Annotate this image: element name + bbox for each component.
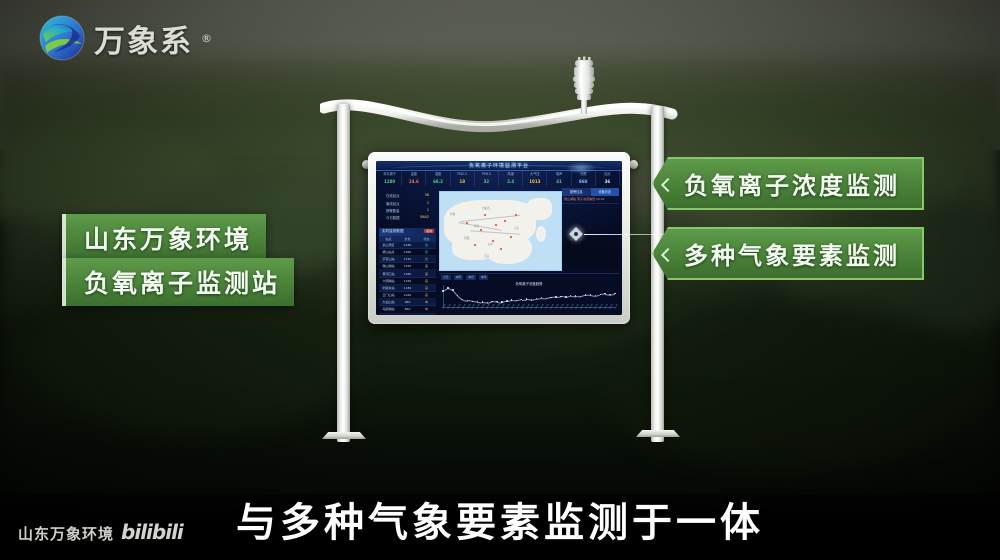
data-table-title: 实时监测数据: [382, 229, 404, 233]
chart-data-point: [546, 298, 547, 299]
table-column-header: 负氧: [398, 237, 417, 241]
station-stat-value: 2: [427, 201, 429, 206]
kpi-card[interactable]: PM2.518: [451, 171, 475, 186]
chart-data-point: [472, 301, 473, 302]
kpi-value: 32: [475, 178, 498, 185]
chart-x-tick-label: 19:00: [536, 304, 541, 310]
callout-right-2[interactable]: 多种气象要素监测: [652, 227, 924, 280]
kpi-card[interactable]: 风速2.4: [499, 171, 523, 186]
station-stats-list: 在线站点36离线站点2报警数量1今日数据8642: [379, 192, 436, 222]
map-region-label: 青海: [474, 224, 479, 228]
alert-item[interactable]: 微山湖站 离子浓度偏低 09:42: [562, 196, 619, 204]
table-cell: 良: [417, 264, 436, 268]
chart-data-point: [482, 301, 483, 302]
right-panel-tabs[interactable]: 报警信息设备状态: [562, 188, 619, 196]
table-cell: 2180: [398, 243, 417, 247]
table-cell: 良: [417, 272, 436, 276]
table-row[interactable]: 黄河口站1380良: [379, 270, 436, 277]
callout-left-1-label: 山东万象环境: [84, 220, 252, 256]
table-cell: 1040: [398, 293, 417, 297]
table-row[interactable]: 云门山站1040良: [379, 292, 436, 299]
dashboard-left-panel: 在线站点36离线站点2报警数量1今日数据8642 实时监测数据 实时 站点负氧状…: [379, 188, 436, 312]
table-cell: 崂山站点: [379, 250, 398, 254]
table-cell: 860: [398, 307, 417, 311]
kpi-card[interactable]: 湿度68.2: [426, 171, 450, 186]
station-stat-value: 8642: [420, 215, 429, 220]
kpi-card[interactable]: PM1032: [475, 171, 499, 186]
table-cell: 大明湖站: [379, 279, 398, 283]
table-cell: 良: [417, 279, 436, 283]
chart-x-tick-label: 06:30: [590, 304, 595, 310]
table-cell: 中: [417, 307, 436, 311]
data-table-header: 实时监测数据 实时: [379, 228, 436, 236]
table-row[interactable]: 泰山景区2180优: [379, 242, 436, 249]
callout-right-1-label: 负氧离子浓度监测: [684, 166, 900, 201]
map-region-label: 内蒙古: [482, 206, 490, 210]
display-screen-frame: 负氧离子环境监测平台 负氧离子1280温度24.6湿度68.2PM2.518PM…: [368, 152, 630, 324]
table-cell: 云门山站: [379, 293, 398, 297]
table-column-header: 状态: [417, 237, 436, 241]
chart-data-point: [555, 296, 556, 297]
table-cell: 九仙山站: [379, 300, 398, 304]
station-stat: 离线站点2: [379, 199, 436, 206]
map-landmass: [526, 198, 552, 220]
chart-data-point: [452, 289, 453, 290]
table-cell: 980: [398, 300, 417, 304]
kpi-value: 1013: [523, 178, 546, 185]
kpi-card[interactable]: 光照860: [572, 171, 596, 186]
callout-left-2-label: 负氧离子监测站: [84, 264, 280, 300]
map-station-dot[interactable]: [492, 240, 494, 242]
map-station-dot[interactable]: [466, 222, 468, 224]
table-row[interactable]: 崂山站点1960优: [379, 249, 436, 256]
kpi-value: 68.2: [426, 178, 449, 185]
table-cell: 优: [417, 257, 436, 261]
map-region-label: 山东: [514, 226, 519, 230]
chart-x-tick-label: 10:00: [491, 304, 496, 310]
table-cell: 1960: [398, 250, 417, 254]
kpi-label: 光照: [572, 171, 595, 178]
chart-data-point: [491, 301, 492, 302]
chart-x-tick-label: 08:30: [599, 304, 604, 310]
map-station-dot[interactable]: [515, 214, 517, 216]
kpi-label: PM2.5: [451, 171, 474, 178]
video-frame: 万象系 ®: [0, 0, 1000, 560]
kpi-value: 2.4: [499, 178, 522, 185]
map-region-label: 西藏: [464, 236, 469, 240]
chart-x-tick-label: 10:30: [609, 304, 614, 310]
chart-data-point: [526, 298, 527, 299]
table-cell: 趵突泉站: [379, 286, 398, 290]
kpi-value: 18: [451, 178, 474, 185]
kpi-card[interactable]: 大气压1013: [523, 171, 547, 186]
station-stat-label: 今日数据: [386, 215, 400, 220]
map-region-label: 四川: [488, 242, 493, 246]
chart-data-point: [447, 287, 448, 288]
dashboard-right-panel[interactable]: 报警信息设备状态 微山湖站 离子浓度偏低 09:42: [562, 188, 619, 240]
table-row[interactable]: 马踏湖站860中: [379, 306, 436, 313]
chart-x-tick-label: 07:30: [594, 304, 599, 310]
chart-data-point: [442, 290, 443, 291]
map-station-dot[interactable]: [500, 248, 502, 250]
chart-x-tick-label: 22:00: [550, 304, 555, 310]
table-cell: 泰山景区: [379, 243, 398, 247]
registered-mark-icon: ®: [201, 32, 212, 45]
table-cell: 马踏湖站: [379, 307, 398, 311]
kpi-card[interactable]: 温度24.6: [402, 171, 426, 186]
trend-chart-panel[interactable]: 今日本周本月本年 负氧离子浓度趋势 00:0001:0002:0003:0004…: [439, 273, 619, 313]
map-landmass: [486, 234, 532, 264]
kpi-value: 24.6: [402, 178, 425, 185]
right-panel-tab[interactable]: 设备状态: [591, 188, 620, 196]
chart-data-point: [506, 300, 507, 301]
chart-data-point: [614, 293, 615, 294]
chart-x-tick-label: 07:00: [477, 304, 482, 310]
table-cell: 1520: [398, 264, 417, 268]
callout-left-2[interactable]: 负氧离子监测站: [62, 258, 294, 306]
chart-x-tick-label: 20:00: [540, 304, 545, 310]
chart-x-tick-label: 21:00: [545, 304, 550, 310]
dashboard[interactable]: 负氧离子环境监测平台 负氧离子1280温度24.6湿度68.2PM2.518PM…: [376, 161, 622, 315]
station-stat-label: 在线站点: [386, 193, 400, 198]
table-cell: 1180: [398, 286, 417, 290]
kpi-label: 风速: [499, 171, 522, 178]
chart-x-tick-label: 09:30: [604, 304, 609, 310]
table-row[interactable]: 九仙山站980中: [379, 299, 436, 306]
kpi-label: 大气压: [523, 171, 546, 178]
table-row[interactable]: 微山湖站1520良: [379, 263, 436, 270]
chart-range-tab[interactable]: 今日: [441, 275, 451, 280]
kpi-label: 温度: [402, 171, 425, 178]
chart-x-tick-label: 08:00: [481, 304, 486, 310]
chart-data-point: [585, 294, 586, 295]
kpi-label: 噪声: [547, 171, 570, 178]
china-map[interactable]: 新疆西藏内蒙古青海四川云南山东: [439, 191, 562, 271]
chart-data-point: [560, 296, 561, 297]
kpi-value: 41: [547, 178, 570, 185]
table-cell: 沂蒙山站: [379, 257, 398, 261]
map-station-dot[interactable]: [504, 220, 506, 222]
dashboard-kpi-row: 负氧离子1280温度24.6湿度68.2PM2.518PM1032风速2.4大气…: [378, 171, 620, 186]
table-cell: 1380: [398, 272, 417, 276]
alert-list[interactable]: 微山湖站 离子浓度偏低 09:42: [562, 196, 619, 204]
table-row[interactable]: 趵突泉站1180良: [379, 285, 436, 292]
map-station-dot[interactable]: [495, 224, 497, 226]
right-panel-empty-area: [562, 241, 619, 267]
map-region-label: 云南: [484, 254, 489, 258]
kpi-label: PM10: [475, 171, 498, 178]
data-table-body[interactable]: 泰山景区2180优崂山站点1960优沂蒙山站1740优微山湖站1520良黄河口站…: [379, 242, 436, 315]
chart-data-point: [550, 297, 551, 298]
station-stat: 报警数量1: [379, 207, 436, 214]
kpi-value: 860: [572, 178, 595, 185]
subtitle-text: 与多种气象要素监测于一体: [0, 490, 1000, 548]
chart-x-tick-labels: 00:0001:0002:0003:0004:0005:0006:0007:00…: [443, 307, 615, 313]
bottom-bar: 山东万象环境 bilibili 与多种气象要素监测于一体: [0, 494, 1000, 560]
chart-range-tabs[interactable]: 今日本周本月本年: [439, 274, 619, 281]
right-panel-tab[interactable]: 报警信息: [562, 188, 591, 196]
callout-right-1[interactable]: 负氧离子浓度监测: [652, 157, 924, 210]
kpi-label: 负氧离子: [378, 171, 401, 178]
brand-logo: 万象系 ®: [36, 12, 212, 64]
map-station-dot[interactable]: [474, 244, 476, 246]
display-screen[interactable]: 负氧离子环境监测平台 负氧离子1280温度24.6湿度68.2PM2.518PM…: [376, 161, 622, 315]
globe-swirl-icon: [36, 12, 88, 64]
data-table-badge: 实时: [424, 229, 434, 233]
kpi-card[interactable]: 噪声41: [547, 171, 571, 186]
table-cell: 1740: [398, 257, 417, 261]
table-column-header: 站点: [379, 237, 398, 241]
table-cell: 良: [417, 293, 436, 297]
table-cell: 中: [417, 300, 436, 304]
table-cell: 良: [417, 286, 436, 290]
table-cell: 黄河口站: [379, 272, 398, 276]
station-stat-value: 1: [427, 208, 429, 213]
chart-data-point: [565, 296, 566, 297]
chart-range-tab[interactable]: 本年: [479, 275, 489, 280]
station-stat-label: 报警数量: [386, 208, 400, 213]
kpi-label: 湿度: [426, 171, 449, 178]
table-cell: 优: [417, 250, 436, 254]
brand-name: 万象系: [94, 16, 193, 61]
map-station-dot[interactable]: [510, 236, 512, 238]
station-stat-value: 36: [425, 193, 429, 198]
chart-range-tab[interactable]: 本月: [466, 275, 476, 280]
callout-left-1[interactable]: 山东万象环境: [62, 214, 266, 262]
chart-data-point: [600, 294, 601, 295]
station-stat: 今日数据8642: [379, 214, 436, 221]
callout-right-2-label: 多种气象要素监测: [684, 236, 900, 271]
table-row[interactable]: 沂蒙山站1740优: [379, 256, 436, 263]
table-cell: 优: [417, 243, 436, 247]
map-island: [536, 226, 546, 242]
kpi-label: 站点: [596, 171, 619, 178]
chart-x-tick-label: 09:00: [486, 304, 491, 310]
station-stat: 在线站点36: [379, 192, 436, 199]
kpi-card[interactable]: 负氧离子1280: [378, 171, 402, 186]
kpi-card[interactable]: 站点36: [596, 171, 620, 186]
chart-range-tab[interactable]: 本周: [454, 275, 464, 280]
station-stat-label: 离线站点: [386, 201, 400, 206]
map-station-dot[interactable]: [484, 214, 486, 216]
table-row[interactable]: 东平湖站780中: [379, 314, 436, 315]
table-row[interactable]: 大明湖站1260良: [379, 278, 436, 285]
table-cell: 1260: [398, 279, 417, 283]
kpi-value: 36: [596, 178, 619, 185]
kpi-value: 1280: [378, 178, 401, 185]
map-station-dot[interactable]: [480, 229, 482, 231]
table-cell: 微山湖站: [379, 264, 398, 268]
map-region-label: 新疆: [450, 212, 455, 216]
chart-data-point: [501, 301, 502, 302]
